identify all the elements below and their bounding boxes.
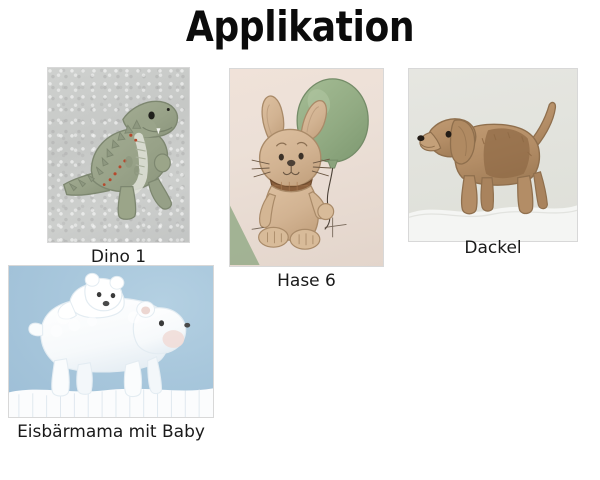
gallery-item-dackel[interactable]: Dackel (408, 68, 578, 242)
caption-dino: Dino 1 (91, 247, 146, 267)
photo-dino[interactable] (47, 67, 190, 243)
page-title: Applikation (42, 2, 558, 52)
gallery-item-dino[interactable]: Dino 1 (47, 67, 190, 243)
page-root: Applikation (0, 0, 600, 480)
photo-eisbaer[interactable] (8, 265, 214, 418)
bunny-with-balloon-applique-icon (230, 69, 383, 266)
dinosaur-applique-icon (48, 68, 189, 242)
gallery-item-eisbaer[interactable]: Eisbärmama mit Baby (8, 265, 214, 418)
caption-dackel: Dackel (464, 238, 521, 258)
polar-bear-mother-and-baby-applique-icon (9, 266, 213, 417)
gallery-item-hase[interactable]: Hase 6 (229, 68, 384, 267)
dachshund-applique-icon (409, 69, 577, 241)
photo-dackel[interactable] (408, 68, 578, 242)
caption-eisbaer: Eisbärmama mit Baby (17, 422, 205, 442)
photo-hase[interactable] (229, 68, 384, 267)
caption-hase: Hase 6 (277, 271, 336, 291)
